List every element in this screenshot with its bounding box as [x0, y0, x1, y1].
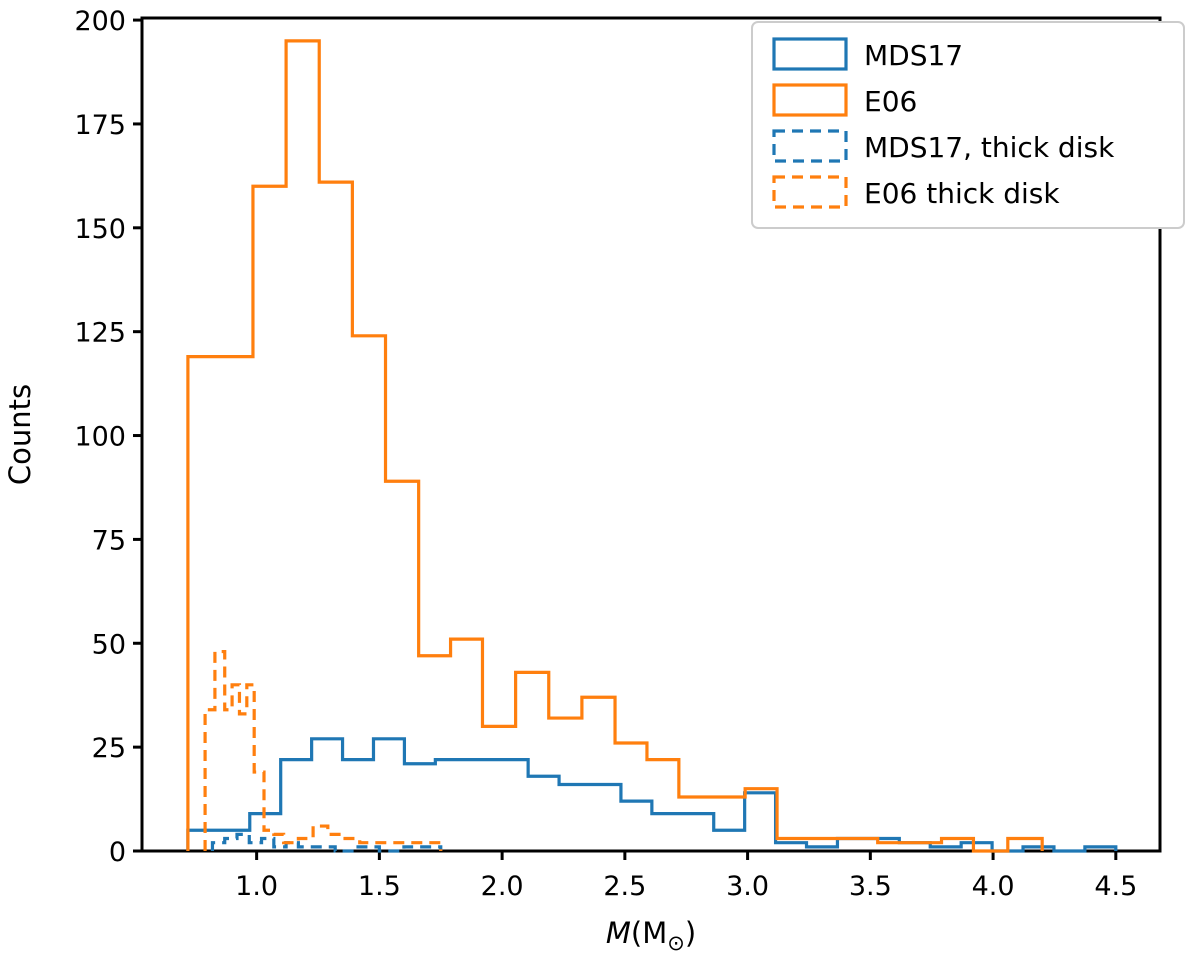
- x-axis-title: M(M⊙): [606, 916, 696, 955]
- y-tick-label: 75: [92, 525, 126, 556]
- x-tick-label: 4.5: [1094, 871, 1137, 902]
- x-tick-label: 1.5: [358, 871, 401, 902]
- x-axis-title-m: M: [606, 916, 631, 950]
- sun-symbol-icon: ⊙: [667, 931, 685, 955]
- y-tick-label: 50: [92, 629, 126, 660]
- x-tick-label: 2.0: [481, 871, 524, 902]
- y-tick-label: 100: [74, 422, 126, 453]
- y-tick-label: 25: [92, 733, 126, 764]
- y-tick-label: 150: [74, 214, 126, 245]
- x-axis-title-open: (M: [631, 916, 667, 950]
- legend: MDS17E06MDS17, thick diskE06 thick disk: [752, 22, 1184, 228]
- legend-label-2: MDS17, thick disk: [864, 131, 1115, 164]
- legend-label-0: MDS17: [864, 39, 963, 72]
- y-tick-label: 0: [109, 837, 126, 868]
- chart-figure: 02550751001251501752001.01.52.02.53.03.5…: [0, 0, 1200, 960]
- x-tick-label: 1.0: [235, 871, 278, 902]
- legend-label-3: E06 thick disk: [864, 177, 1060, 210]
- x-axis-title-close: ): [685, 916, 696, 950]
- y-tick-label: 175: [74, 110, 126, 141]
- x-tick-label: 3.5: [849, 871, 892, 902]
- x-tick-label: 3.0: [726, 871, 769, 902]
- x-tick-label: 2.5: [603, 871, 646, 902]
- y-tick-label: 200: [74, 6, 126, 37]
- x-tick-label: 4.0: [972, 871, 1015, 902]
- legend-label-1: E06: [864, 85, 917, 118]
- histogram-plot: 02550751001251501752001.01.52.02.53.03.5…: [0, 0, 1200, 960]
- y-axis-title: Counts: [3, 384, 37, 485]
- y-tick-label: 125: [74, 318, 126, 349]
- histogram-series-mds17: [188, 739, 1116, 851]
- histogram-series-mds17-thick-disk: [212, 834, 440, 851]
